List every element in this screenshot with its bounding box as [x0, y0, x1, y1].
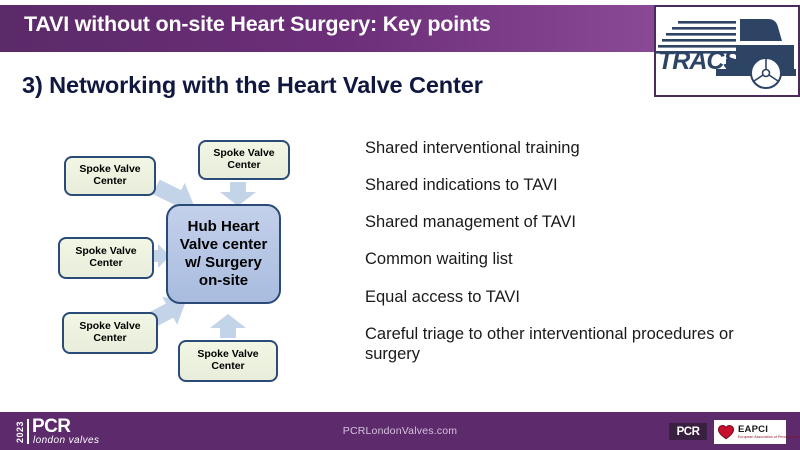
- list-item: Common waiting list: [365, 249, 785, 269]
- spoke-node-top-left: Spoke Valve Center: [64, 156, 156, 196]
- slide-heading: 3) Networking with the Heart Valve Cente…: [22, 72, 483, 99]
- spoke-label: Spoke Valve Center: [184, 349, 272, 373]
- footer-bar: 2023 PCR london valves PCRLondonValves.c…: [0, 412, 800, 450]
- footer-pcr-badge: PCR: [669, 423, 707, 440]
- spoke-node-bottom-left: Spoke Valve Center: [62, 312, 158, 354]
- list-item: Careful triage to other interventional p…: [365, 324, 785, 364]
- tracs-truck-logo: TRACS: [654, 5, 800, 97]
- hub-and-spoke-diagram: Spoke Valve Center Spoke Valve Center Sp…: [50, 132, 350, 397]
- tracs-wheel-icon: [751, 58, 781, 88]
- eapci-logo: EAPCI European Association of Percutaneo…: [714, 420, 786, 444]
- tracs-truck-icon: TRACS: [656, 7, 798, 95]
- eapci-name: EAPCI: [738, 425, 800, 435]
- heart-icon: [717, 423, 735, 441]
- spoke-label: Spoke Valve Center: [64, 246, 148, 270]
- list-item: Equal access to TAVI: [365, 287, 785, 307]
- spoke-label: Spoke Valve Center: [68, 321, 152, 345]
- eapci-subtitle: European Association of Percutaneous Car…: [738, 436, 800, 439]
- tracs-wordmark: TRACS: [658, 47, 740, 75]
- hub-node: Hub Heart Valve center w/ Surgery on-sit…: [166, 204, 281, 304]
- spoke-node-bottom: Spoke Valve Center: [178, 340, 278, 382]
- arrow-top-to-hub: [220, 182, 256, 206]
- spoke-label: Spoke Valve Center: [70, 164, 150, 188]
- list-item: Shared management of TAVI: [365, 212, 785, 232]
- page-title: TAVI without on-site Heart Surgery: Key …: [24, 12, 644, 37]
- spoke-node-top: Spoke Valve Center: [198, 140, 290, 180]
- spoke-label: Spoke Valve Center: [204, 148, 284, 172]
- list-item: Shared indications to TAVI: [365, 175, 785, 195]
- footer-brand-subtitle: london valves: [33, 436, 99, 446]
- eapci-text-block: EAPCI European Association of Percutaneo…: [738, 425, 800, 439]
- key-points-list: Shared interventional training Shared in…: [365, 138, 785, 364]
- arrow-bottom-to-hub: [210, 314, 246, 338]
- spoke-node-middle-left: Spoke Valve Center: [58, 237, 154, 279]
- hub-label: Hub Heart Valve center w/ Surgery on-sit…: [174, 218, 273, 290]
- list-item: Shared interventional training: [365, 138, 785, 158]
